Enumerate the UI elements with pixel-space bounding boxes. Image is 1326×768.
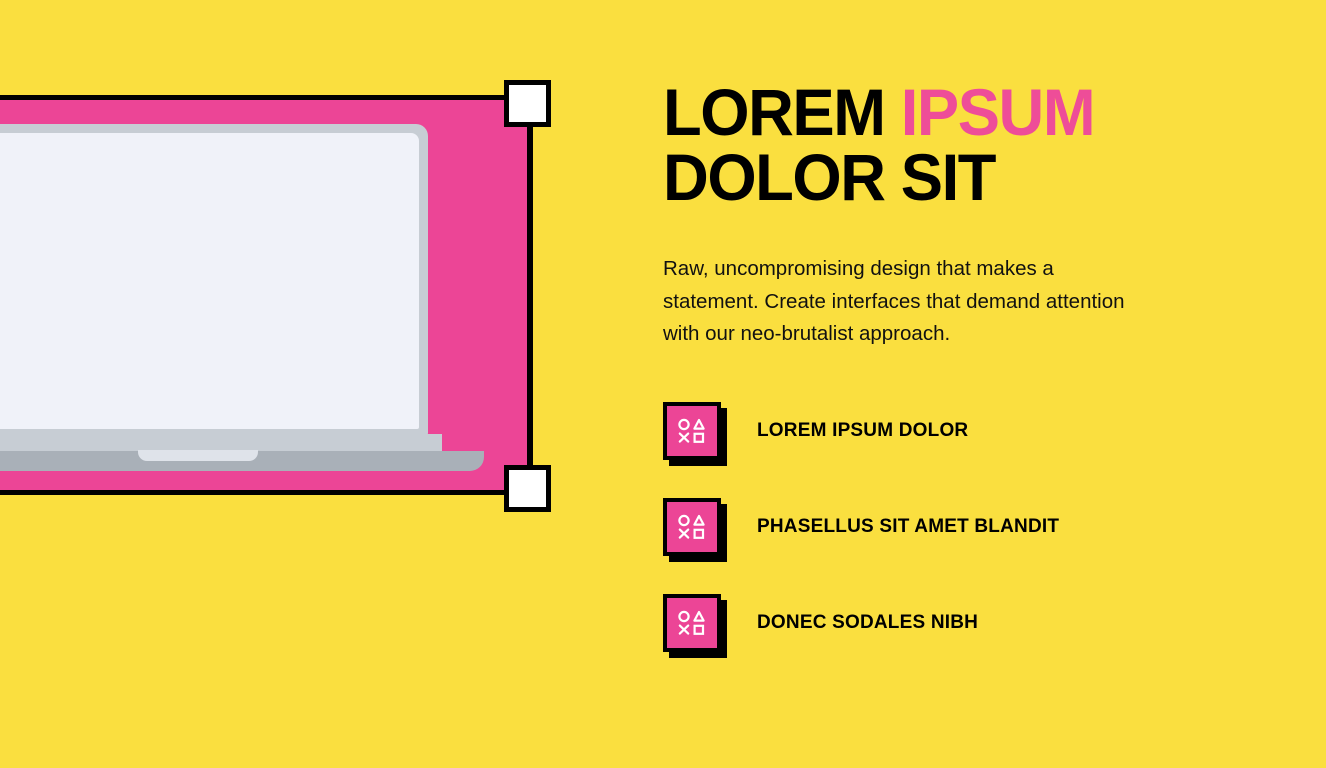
feature-label: LOREM IPSUM DOLOR bbox=[757, 420, 968, 442]
marker-connector-line bbox=[529, 100, 533, 490]
shapes-grid-icon bbox=[663, 402, 721, 460]
laptop-notch bbox=[138, 450, 258, 461]
corner-marker-top bbox=[504, 80, 551, 127]
list-item[interactable]: PHASELLUS SIT AMET BLANDIT bbox=[663, 498, 1263, 556]
feature-label: DONEC SODALES NIBH bbox=[757, 612, 978, 634]
hero-paragraph: Raw, uncompromising design that makes a … bbox=[663, 253, 1125, 350]
laptop-screen bbox=[0, 133, 419, 429]
feature-label: PHASELLUS SIT AMET BLANDIT bbox=[757, 516, 1059, 538]
headline-line-2: DOLOR SIT bbox=[663, 145, 1239, 210]
page-title: LOREM IPSUM DOLOR SIT bbox=[663, 80, 1239, 209]
hero-visual bbox=[0, 0, 600, 560]
list-item[interactable]: DONEC SODALES NIBH bbox=[663, 594, 1263, 652]
laptop-lid bbox=[0, 124, 428, 436]
headline-word-black: LOREM bbox=[663, 75, 901, 149]
laptop-illustration bbox=[0, 124, 432, 474]
headline-word-accent: IPSUM bbox=[901, 75, 1094, 149]
list-item[interactable]: LOREM IPSUM DOLOR bbox=[663, 402, 1263, 460]
feature-list: LOREM IPSUM DOLOR PHASELLUS SIT AMET BLA… bbox=[663, 402, 1263, 652]
laptop-hinge bbox=[0, 434, 442, 451]
shapes-grid-icon bbox=[663, 498, 721, 556]
hero-content: LOREM IPSUM DOLOR SIT Raw, uncompromisin… bbox=[663, 80, 1263, 690]
shapes-grid-icon bbox=[663, 594, 721, 652]
corner-marker-bottom bbox=[504, 465, 551, 512]
